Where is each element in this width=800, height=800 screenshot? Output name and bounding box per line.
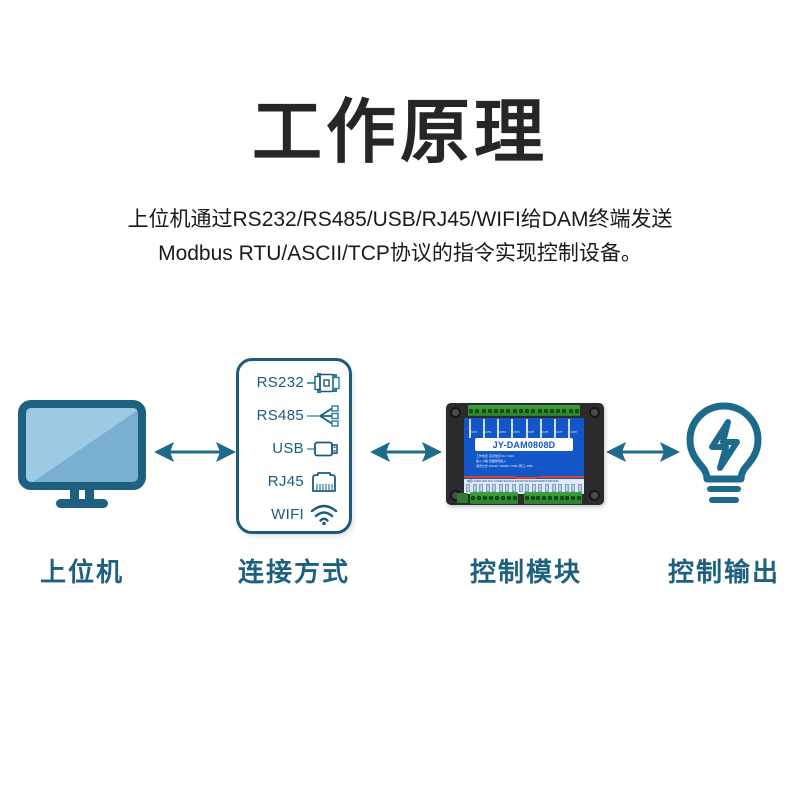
stage-label-module: 控制模块 [462,552,590,589]
lightbulb-icon [676,398,772,510]
terminal-screws-bottom-left [470,492,518,504]
rj45-jack-icon [307,470,341,494]
terminal-screws-bottom-right [524,492,582,504]
relay-cell: OUT6 [540,420,551,438]
spec-line: 通讯方式: RS232 / RS485 / USB / 网口 / WIFI [476,464,574,469]
stage-labels-row: 上位机 连接方式 控制模块 控制输出 [0,552,800,592]
terminal-screws-top [468,405,580,416]
terminal-block-top [468,405,580,416]
connection-methods-panel: RS232 RS485 [236,358,352,534]
stage-label-output: 控制输出 [660,552,788,589]
rs485-splitter-icon [307,404,341,428]
wifi-signal-icon [307,503,341,527]
arrow-module-to-output [606,439,680,465]
monitor-icon [18,400,146,510]
connection-label-usb: USB [272,440,304,457]
terminal-block-bottom-right [524,492,582,504]
usb-plug-icon [307,437,341,461]
module-model-label: JY-DAM0808D [475,438,573,451]
connection-label-rs232: RS232 [257,374,304,391]
terminal-block-power [457,493,468,503]
connection-label-rs485: RS485 [257,407,304,424]
relay-cell: OUT2 [483,420,494,438]
mounting-hole-bottom-right [589,490,600,501]
mounting-hole-top-left [450,407,461,418]
connection-row-rs485[interactable]: RS485 [239,399,349,432]
relay-cell: OUT5 [526,420,537,438]
connection-row-rj45[interactable]: RJ45 [239,465,349,498]
page-subtitle: 上位机通过RS232/RS485/USB/RJ45/WIFI给DAM终端发送 M… [60,203,740,271]
connection-row-usb[interactable]: USB [239,432,349,465]
mounting-hole-top-right [589,407,600,418]
arrow-connection-to-module [370,439,442,465]
pcb-solder-pads [466,484,582,492]
module-spec-lines: 工作电压: 直流电压 DC 7-30V 输入: 8路 光耦隔离输入 通讯方式: … [476,454,574,469]
module-pcb: OUT1 OUT2 OUT3 OUT4 [464,418,584,494]
subtitle-line-1: 上位机通过RS232/RS485/USB/RJ45/WIFI给DAM终端发送 [60,203,740,237]
page-title: 工作原理 [0,92,800,172]
connection-row-wifi[interactable]: WIFI [239,498,349,531]
relay-cell: OUT8 [568,420,579,438]
terminal-block-bottom-left [470,492,518,504]
relay-cell: OUT3 [497,420,508,438]
stage-label-connection: 连接方式 [234,552,354,589]
module-chassis: OUT1 OUT2 OUT3 OUT4 [446,403,604,505]
relay-cell: OUT7 [554,420,565,438]
connection-label-rj45: RJ45 [268,473,304,490]
stage-label-host: 上位机 [22,552,142,589]
connection-row-rs232[interactable]: RS232 [239,366,349,399]
relay-cell: OUT4 [511,420,522,438]
module-model-text: JY-DAM0808D [493,440,556,450]
relay-indicator-strip: OUT1 OUT2 OUT3 OUT4 [464,420,584,434]
control-module-device: OUT1 OUT2 OUT3 OUT4 [440,398,610,510]
arrow-host-to-connection [154,439,236,465]
subtitle-line-2: Modbus RTU/ASCII/TCP协议的指令实现控制设备。 [60,237,740,271]
db9-connector-icon [307,371,341,395]
relay-cell: OUT1 [469,420,480,438]
connection-label-wifi: WIFI [271,506,304,523]
